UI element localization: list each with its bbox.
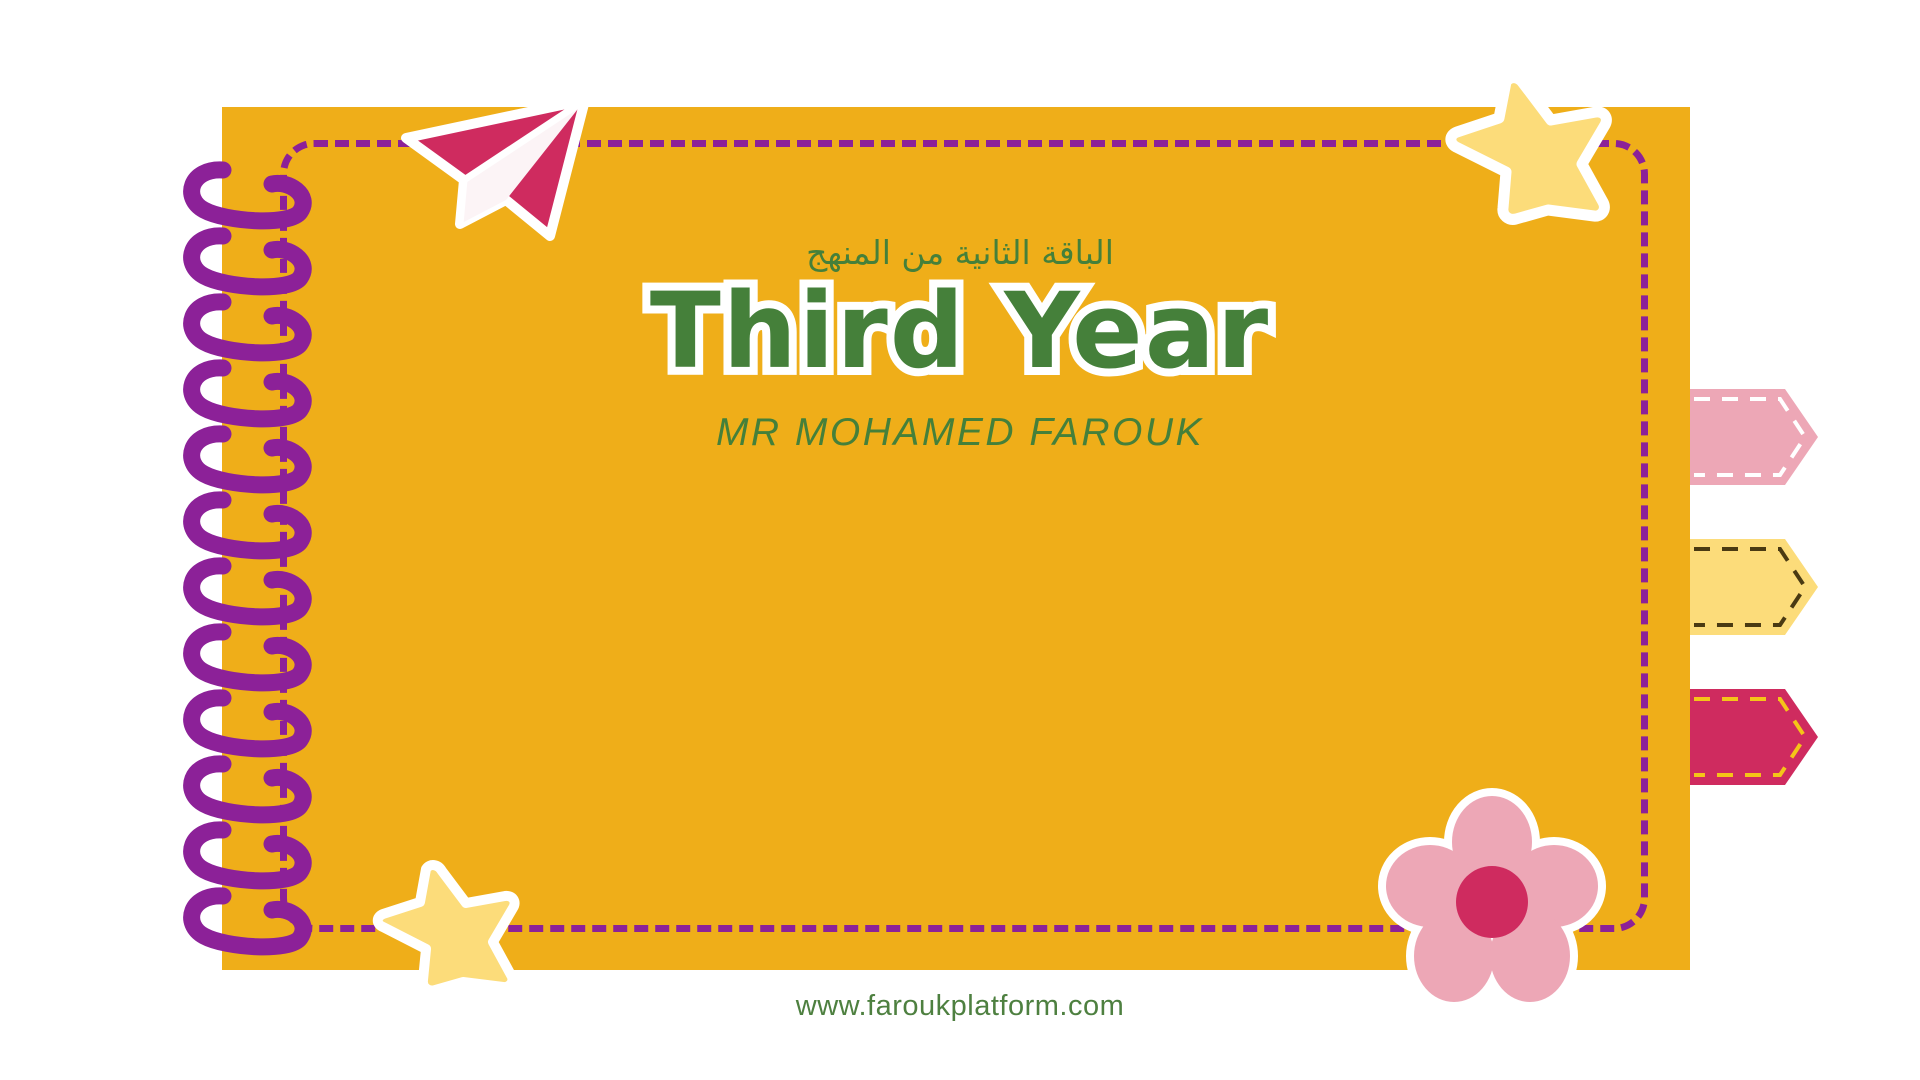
bookmark-tabs	[1690, 0, 1920, 1080]
spiral-binding-icon	[160, 150, 360, 970]
flower-icon	[1382, 790, 1602, 1010]
title-slide: الباقة الثانية من المنهج Third Year Thir…	[0, 0, 1920, 1080]
bookmark-tab-yellow[interactable]	[1690, 537, 1820, 637]
paper-plane-icon	[402, 96, 612, 256]
website-url[interactable]: www.faroukplatform.com	[0, 990, 1920, 1023]
star-icon	[372, 860, 512, 1000]
bookmark-tab-crimson[interactable]	[1690, 687, 1820, 787]
star-icon	[1444, 72, 1604, 227]
